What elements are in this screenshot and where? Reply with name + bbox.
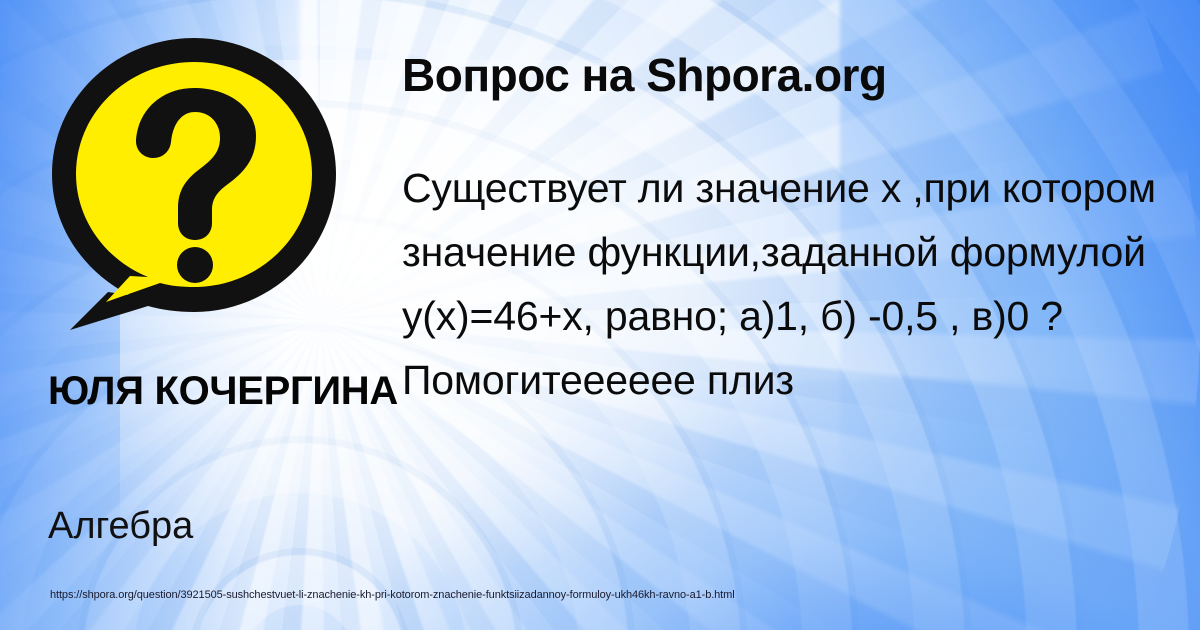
page-title: Вопрос на Shpora.org (402, 48, 1192, 102)
question-speech-bubble-svg (44, 30, 344, 330)
question-speech-bubble-icon (44, 30, 344, 330)
question-body-text: Существует ли значение х ,при котором зн… (402, 156, 1200, 412)
left-column (44, 30, 384, 330)
source-url[interactable]: https://shpora.org/question/3921505-sush… (50, 589, 735, 601)
question-share-card: ЮЛЯ КОЧЕРГИНА Алгебра Вопрос на Shpora.o… (0, 0, 1200, 630)
question-subject: Алгебра (48, 505, 193, 548)
